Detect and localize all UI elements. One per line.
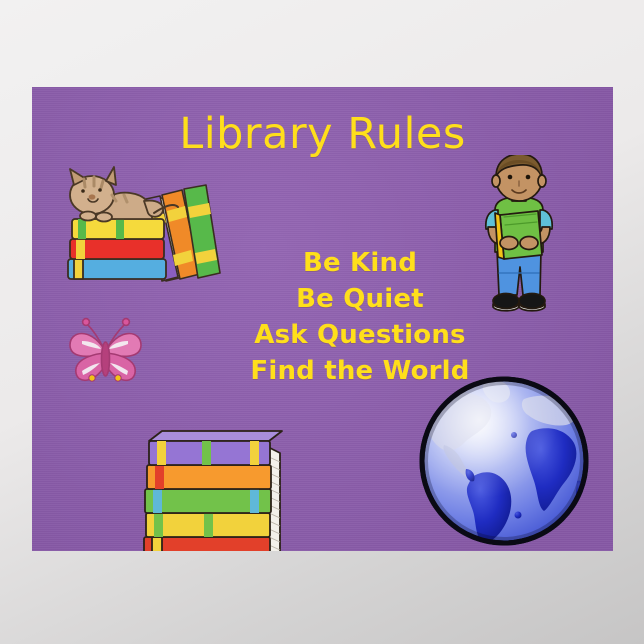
cat-on-books-icon	[54, 155, 234, 285]
library-rules-poster: Library Rules Be Kind Be Quiet Ask Quest…	[32, 87, 613, 551]
boy-with-book-icon	[464, 155, 574, 325]
book-stack-icon	[130, 425, 300, 551]
butterfly-icon	[60, 309, 150, 391]
page-title: Library Rules	[32, 109, 613, 159]
globe-icon	[414, 365, 594, 551]
poster-canvas: Library Rules Be Kind Be Quiet Ask Quest…	[0, 0, 644, 644]
